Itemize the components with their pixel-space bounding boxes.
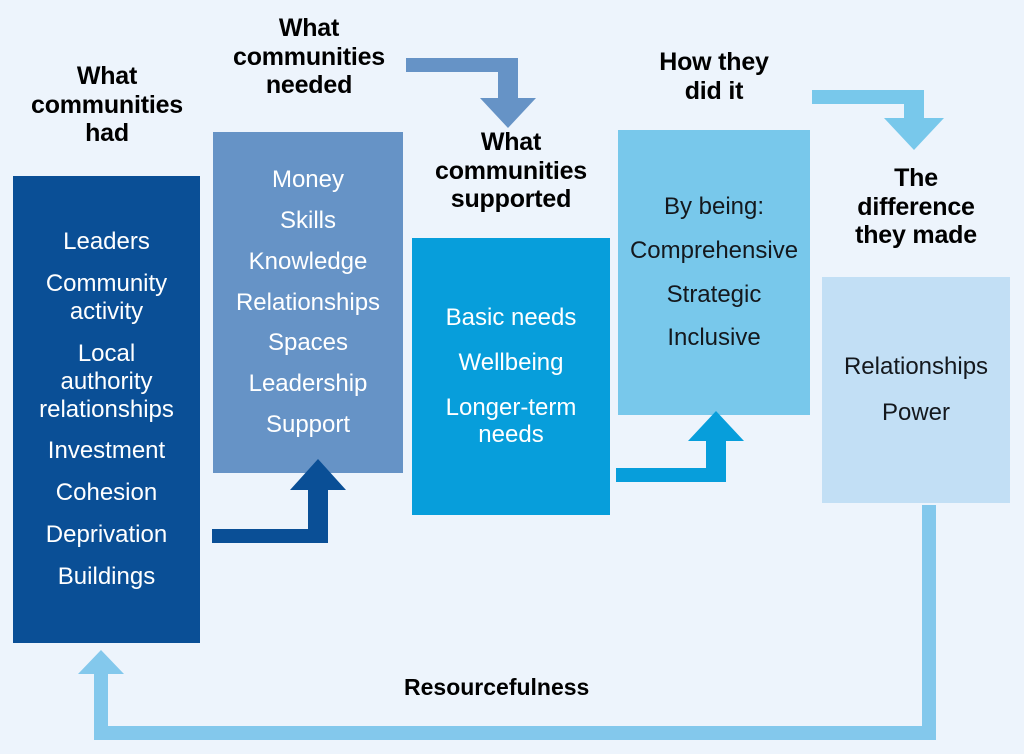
- list-item: Deprivation: [21, 521, 192, 549]
- list-item: Investment: [21, 437, 192, 465]
- box-what-communities-had[interactable]: Leaders Communityactivity Localauthority…: [13, 176, 200, 643]
- list-item: Skills: [219, 207, 397, 235]
- list-item: Knowledge: [219, 248, 397, 276]
- diagram-canvas: Whatcommunitieshad Whatcommunitiesneeded…: [0, 0, 1024, 754]
- list-item: Communityactivity: [21, 270, 192, 326]
- list-item: Relationships: [219, 289, 397, 317]
- heading-what-communities-needed: Whatcommunitiesneeded: [213, 14, 405, 100]
- list-item: Inclusive: [622, 324, 806, 352]
- list-item: Leaders: [21, 228, 192, 256]
- arrow-difference-back-to-had: [78, 505, 936, 740]
- box-how-they-did-it[interactable]: By being: Comprehensive Strategic Inclus…: [618, 130, 810, 415]
- list-item: Cohesion: [21, 479, 192, 507]
- list-item: Localauthorityrelationships: [21, 340, 192, 423]
- list-item: Comprehensive: [622, 237, 806, 265]
- list-item: Relationships: [828, 353, 1004, 381]
- box-what-communities-supported[interactable]: Basic needs Wellbeing Longer-termneeds: [412, 238, 610, 515]
- list-item: Longer-termneeds: [420, 394, 602, 450]
- list-item: Buildings: [21, 563, 192, 591]
- list-item: Money: [219, 166, 397, 194]
- arrow-needed-to-supported: [406, 58, 536, 128]
- list-item: Leadership: [219, 370, 397, 398]
- arrow-howdid-to-difference: [812, 90, 944, 150]
- list-item: Strategic: [622, 281, 806, 309]
- resourcefulness-label: Resourcefulness: [404, 674, 589, 701]
- box-what-communities-needed[interactable]: Money Skills Knowledge Relationships Spa…: [213, 132, 403, 473]
- list-item: Support: [219, 411, 397, 439]
- list-item: Basic needs: [420, 304, 602, 332]
- heading-the-difference-they-made: Thedifferencethey made: [822, 164, 1010, 250]
- list-item: Spaces: [219, 329, 397, 357]
- heading-what-communities-had: Whatcommunitieshad: [18, 62, 196, 148]
- arrow-supported-to-howdid: [616, 411, 744, 482]
- heading-how-they-did-it: How theydid it: [618, 48, 810, 105]
- list-item: Power: [828, 399, 1004, 427]
- box-the-difference-they-made[interactable]: Relationships Power: [822, 277, 1010, 503]
- list-item: By being:: [622, 193, 806, 221]
- heading-what-communities-supported: Whatcommunitiessupported: [412, 128, 610, 214]
- list-item: Wellbeing: [420, 349, 602, 377]
